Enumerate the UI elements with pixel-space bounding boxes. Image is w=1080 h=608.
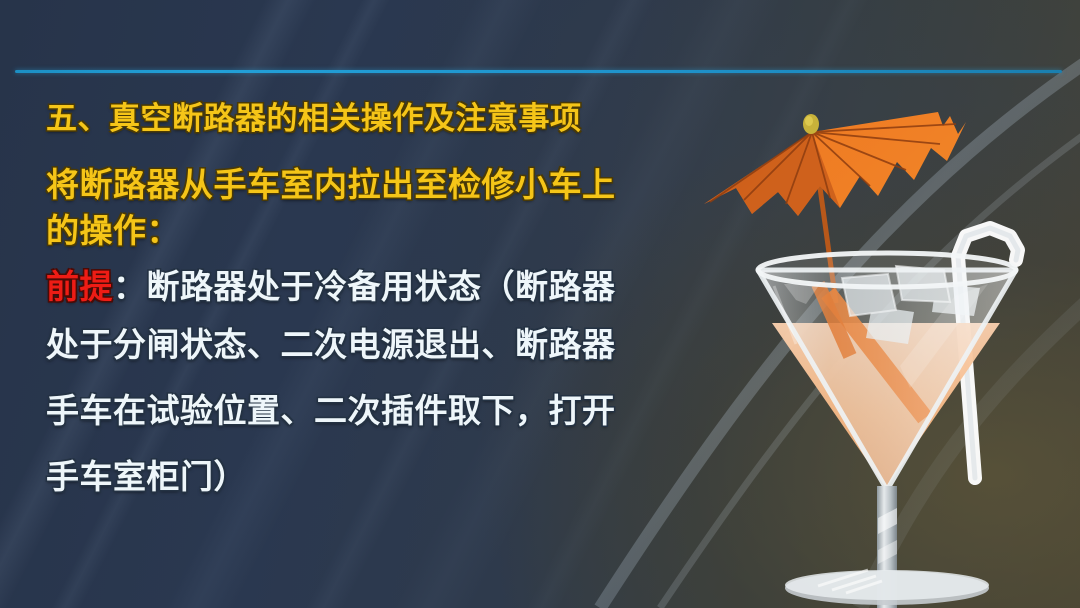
premise-label: 前提 — [46, 268, 113, 305]
header-divider-rule — [15, 70, 1062, 73]
cocktail-glass-illustration — [700, 88, 1080, 608]
glass-stem-and-base — [785, 486, 989, 608]
page-title: 五、真空断路器的相关操作及注意事项 — [46, 98, 706, 140]
body-line-2: 的操作： — [46, 208, 706, 254]
premise-line: 前提：断路器处于冷备用状态（断路器 — [46, 262, 706, 312]
body-line-1: 将断路器从手车室内拉出至检修小车上 — [46, 162, 706, 208]
body-line-5: 手车室柜门） — [46, 444, 706, 510]
umbrella-finial-highlight — [805, 116, 813, 126]
body-line-4: 手车在试验位置、二次插件取下，打开 — [46, 378, 706, 444]
slide-text-block: 五、真空断路器的相关操作及注意事项 将断路器从手车室内拉出至检修小车上 的操作：… — [46, 98, 706, 510]
slide-canvas: 五、真空断路器的相关操作及注意事项 将断路器从手车室内拉出至检修小车上 的操作：… — [0, 0, 1080, 608]
premise-text: ：断路器处于冷备用状态（断路器 — [113, 268, 616, 305]
body-line-3: 处于分闸状态、二次电源退出、断路器 — [46, 312, 706, 378]
